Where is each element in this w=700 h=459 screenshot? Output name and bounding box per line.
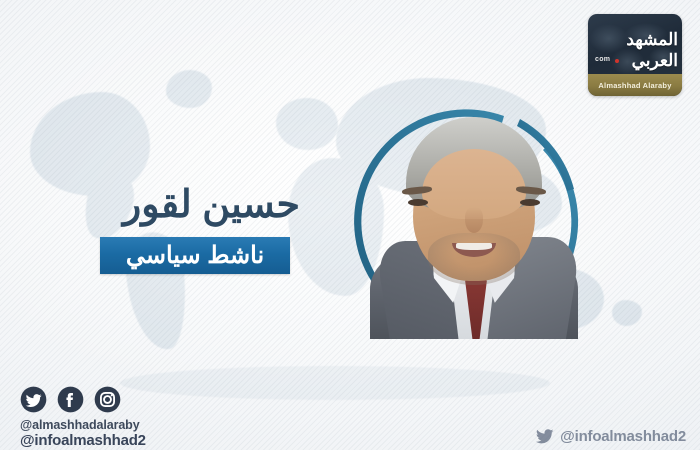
social-handle-primary[interactable]: @almashhadalaraby xyxy=(20,418,140,432)
subject-photo xyxy=(368,103,580,339)
watermark-handle: @infoalmashhad2 xyxy=(560,428,686,445)
instagram-icon[interactable] xyxy=(94,386,121,413)
subject-title-text: ناشط سياسي xyxy=(126,244,264,268)
logo-arabic-line-1: المشهد xyxy=(588,31,678,48)
social-handle-secondary[interactable]: @infoalmashhad2 xyxy=(20,432,146,449)
logo-red-dot-icon xyxy=(615,59,619,63)
logo-latin-bar: Almashhad Alaraby xyxy=(588,74,682,96)
bottom-white-strip xyxy=(0,450,700,459)
watermark: @infoalmashhad2 xyxy=(536,428,686,445)
portrait-container xyxy=(352,101,592,341)
subject-name: حسين لقور xyxy=(0,186,300,224)
social-media-card: المشهد العربي com Almashhad Alaraby xyxy=(0,0,700,459)
channel-logo[interactable]: المشهد العربي com Almashhad Alaraby xyxy=(588,14,682,96)
twitter-icon[interactable] xyxy=(20,386,47,413)
logo-latin-name: Almashhad Alaraby xyxy=(598,81,671,90)
facebook-icon[interactable] xyxy=(57,386,84,413)
subject-title-badge: ناشط سياسي xyxy=(100,237,290,274)
logo-domain-label: com xyxy=(595,56,610,63)
twitter-icon xyxy=(536,429,554,444)
social-icon-row xyxy=(20,386,121,413)
